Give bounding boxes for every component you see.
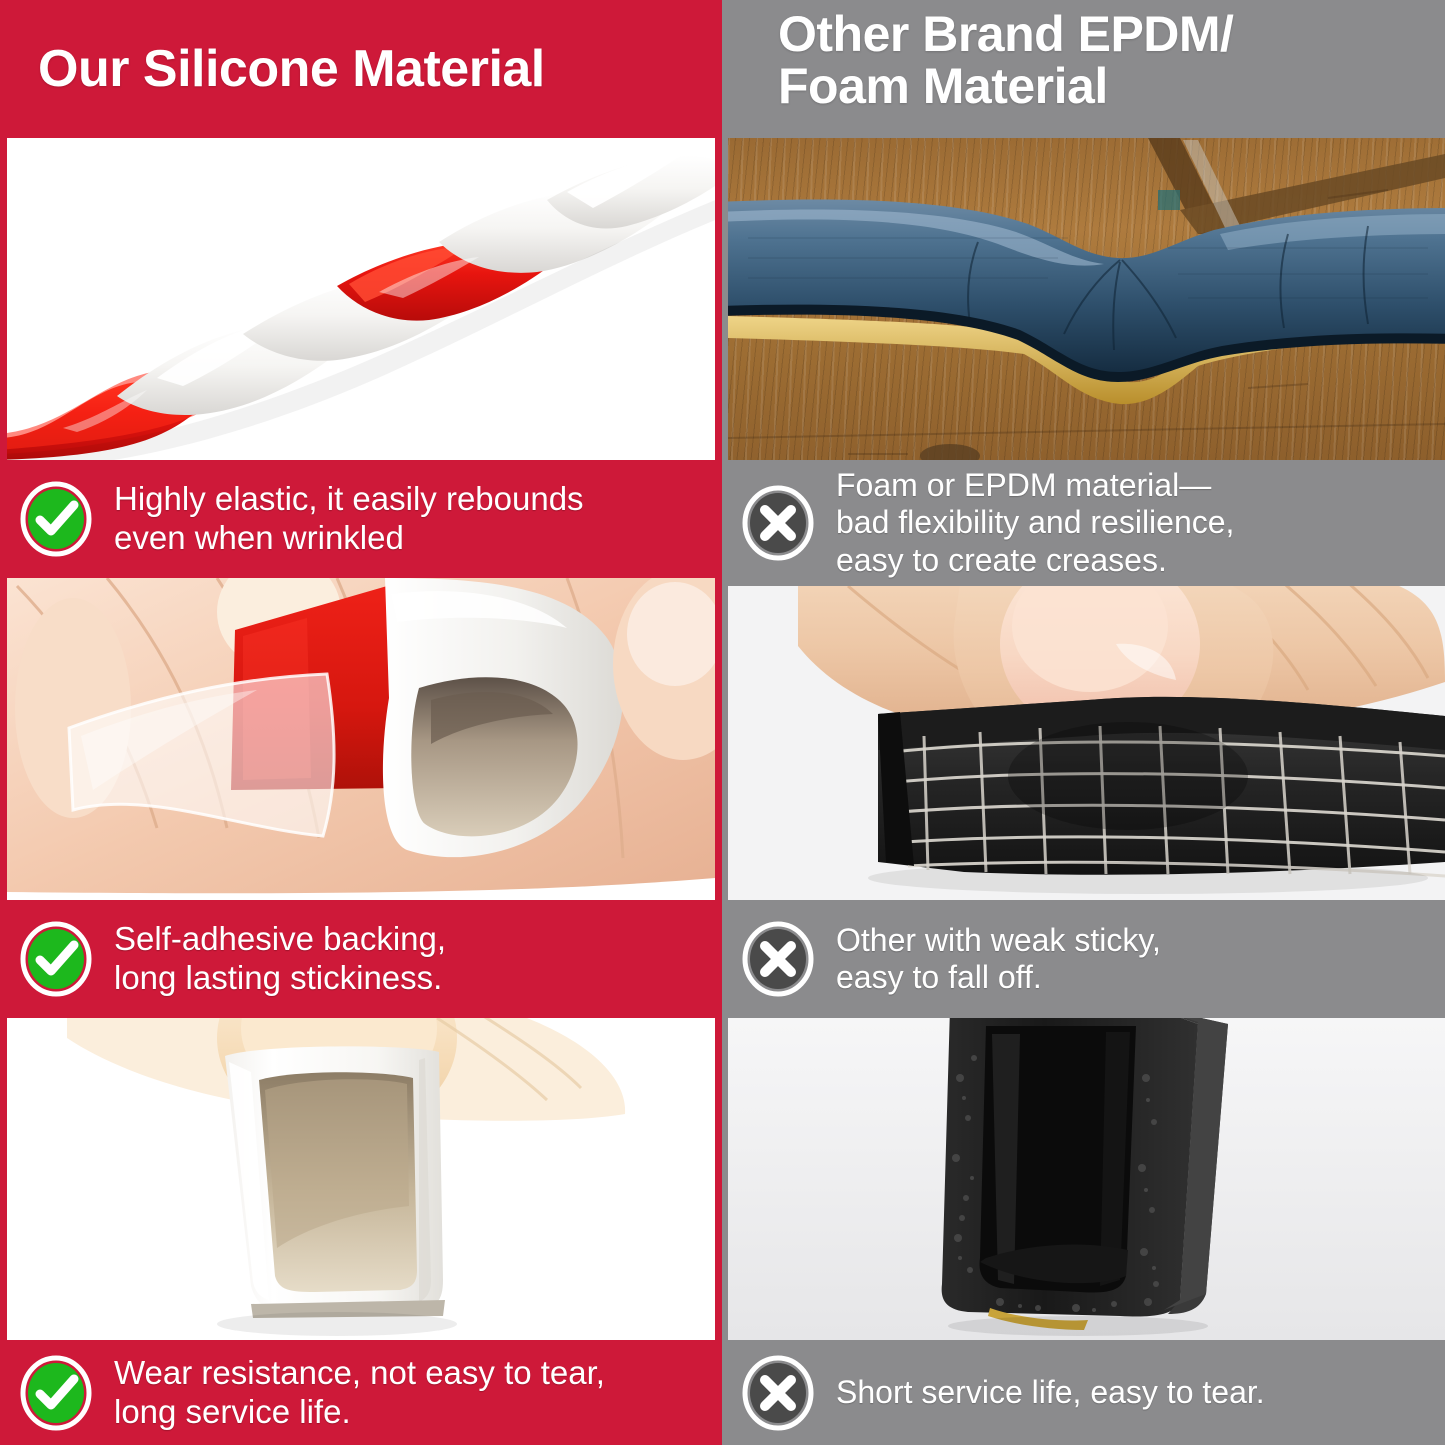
- good-caption-1: Highly elastic, it easily reboundseven w…: [0, 460, 722, 578]
- bad-caption-3-text: Short service life, easy to tear.: [836, 1374, 1265, 1411]
- comparison-infographic: Our Silicone Material: [0, 0, 1445, 1445]
- twisted-strip-illustration: [7, 138, 715, 460]
- black-foam-mesh-backing-photo: [728, 586, 1445, 900]
- good-header-title: Our Silicone Material: [38, 42, 545, 96]
- bad-caption-2-text: Other with weak sticky,easy to fall off.: [836, 922, 1161, 997]
- x-circle-icon: [742, 1355, 814, 1431]
- adhesive-peel-illustration: [7, 578, 715, 900]
- good-caption-3: Wear resistance, not easy to tear,long s…: [0, 1340, 722, 1445]
- bad-column: Other Brand EPDM/Foam Material: [722, 0, 1445, 1445]
- creased-blue-foam-on-floor-photo: [728, 138, 1445, 460]
- x-circle-icon: [742, 485, 814, 561]
- peeling-adhesive-backing-photo: [7, 578, 715, 900]
- good-column-header: Our Silicone Material: [0, 0, 722, 138]
- bad-column-header: Other Brand EPDM/Foam Material: [722, 0, 1445, 138]
- good-caption-2: Self-adhesive backing,long lasting stick…: [0, 900, 722, 1018]
- check-circle-icon: [20, 1355, 92, 1431]
- bad-caption-1: Foam or EPDM material—bad flexibility an…: [722, 460, 1445, 586]
- foam-mesh-illustration: [728, 586, 1445, 900]
- bad-caption-1-text: Foam or EPDM material—bad flexibility an…: [836, 467, 1234, 579]
- check-circle-icon: [20, 481, 92, 557]
- white-u-channel-illustration: [7, 1018, 715, 1340]
- black-u-channel-illustration: [728, 1018, 1445, 1340]
- bad-header-title: Other Brand EPDM/Foam Material: [778, 8, 1233, 112]
- good-column: Our Silicone Material: [0, 0, 722, 1445]
- bad-caption-2: Other with weak sticky,easy to fall off.: [722, 900, 1445, 1018]
- creased-foam-illustration: [728, 138, 1445, 460]
- black-foam-u-channel-photo: [728, 1018, 1445, 1340]
- check-circle-icon: [20, 921, 92, 997]
- good-caption-2-text: Self-adhesive backing,long lasting stick…: [114, 920, 446, 997]
- white-u-channel-seal-photo: [7, 1018, 715, 1340]
- bad-caption-3: Short service life, easy to tear.: [722, 1340, 1445, 1445]
- x-circle-icon: [742, 921, 814, 997]
- good-caption-1-text: Highly elastic, it easily reboundseven w…: [114, 480, 584, 557]
- twisted-silicone-strip-photo: [7, 138, 715, 460]
- good-caption-3-text: Wear resistance, not easy to tear,long s…: [114, 1354, 605, 1431]
